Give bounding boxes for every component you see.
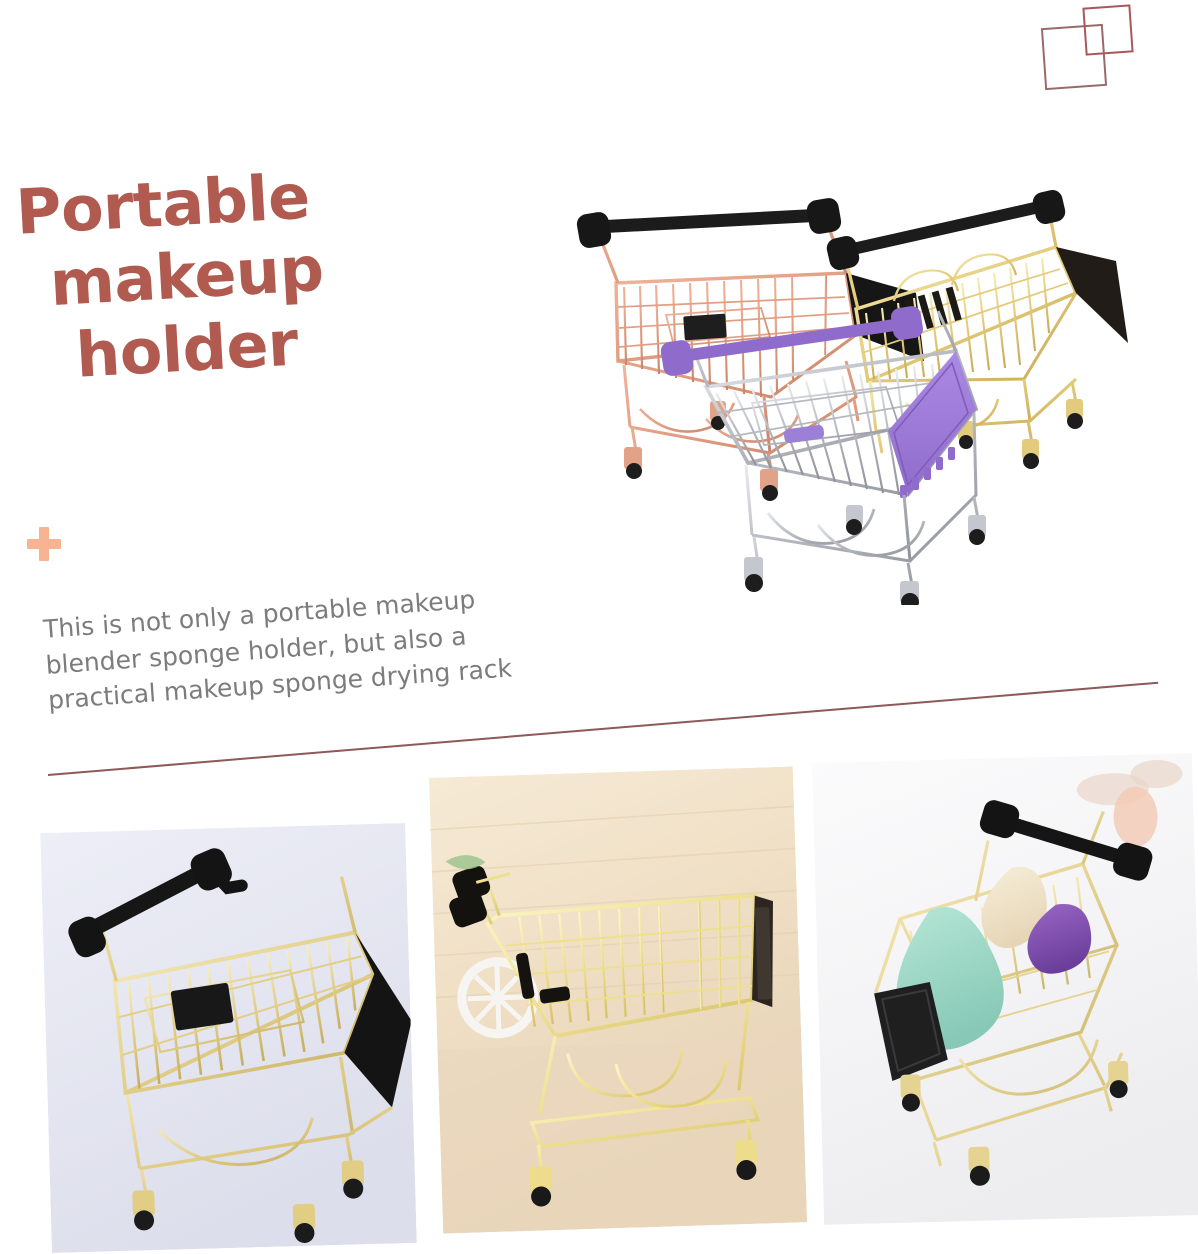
plus-horizontal-bar — [27, 539, 61, 549]
decorative-squares — [1035, 4, 1145, 96]
photo-cart-with-sponges — [812, 753, 1198, 1225]
description-text: This is not only a portable makeup blend… — [42, 576, 568, 719]
plus-icon — [27, 527, 61, 561]
page-title: Portable makeup holder — [14, 150, 496, 395]
small-square-icon — [1082, 4, 1133, 55]
photo-gold-cart-wood — [429, 766, 807, 1233]
photo-gold-cart-lavender — [40, 823, 417, 1253]
product-infographic-page: Portable makeup holder This is not only … — [0, 0, 1198, 1254]
hero-image-three-carts — [556, 165, 1176, 605]
